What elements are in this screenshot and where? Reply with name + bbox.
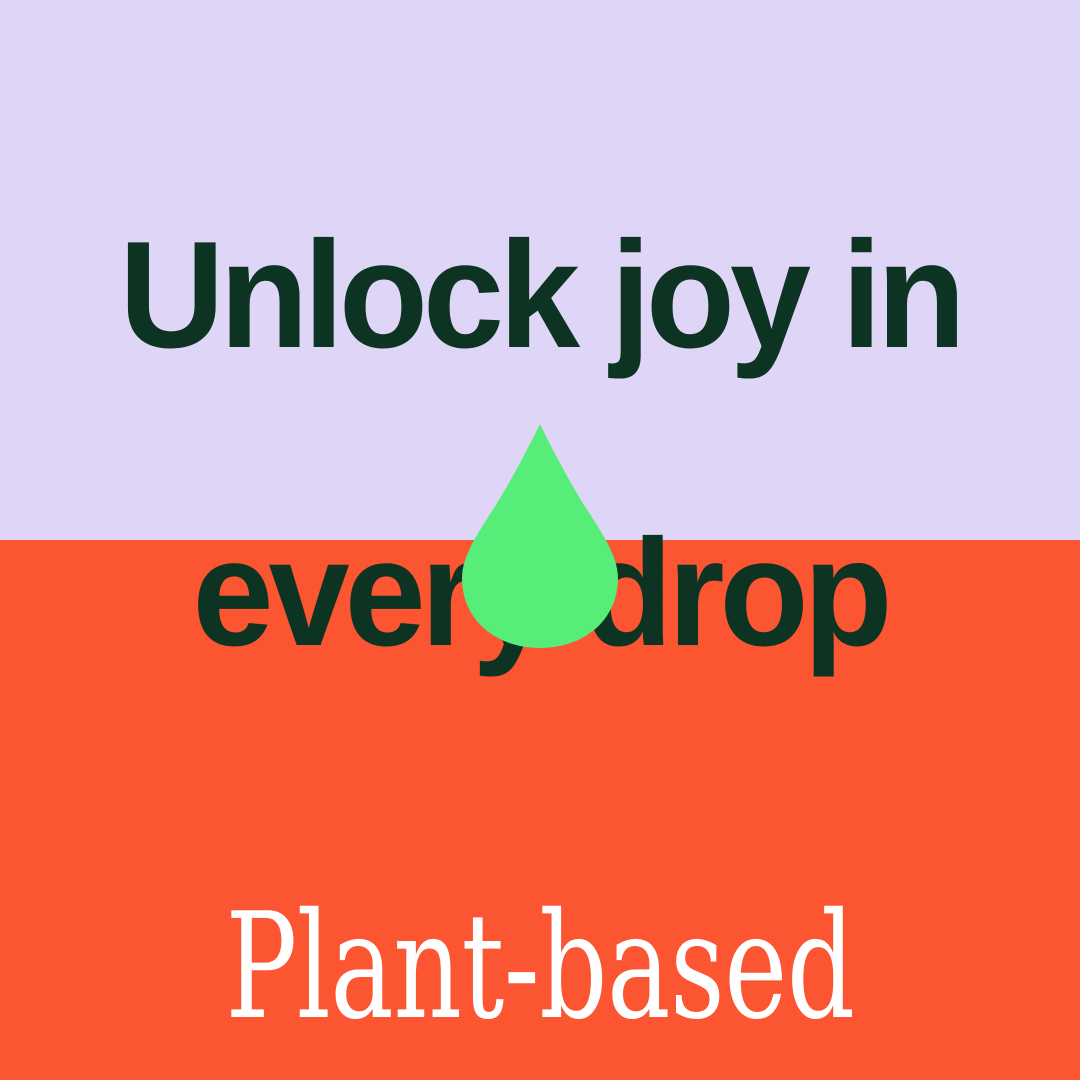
subline: Plant-based everyday bliss <box>0 676 1080 1080</box>
water-drop-icon <box>440 412 640 660</box>
headline-line-1: Unlock joy in <box>22 221 1059 370</box>
subline-line-1: Plant-based <box>76 860 1005 1077</box>
poster-canvas: Unlock joy in every drop Plant-based eve… <box>0 0 1080 1080</box>
